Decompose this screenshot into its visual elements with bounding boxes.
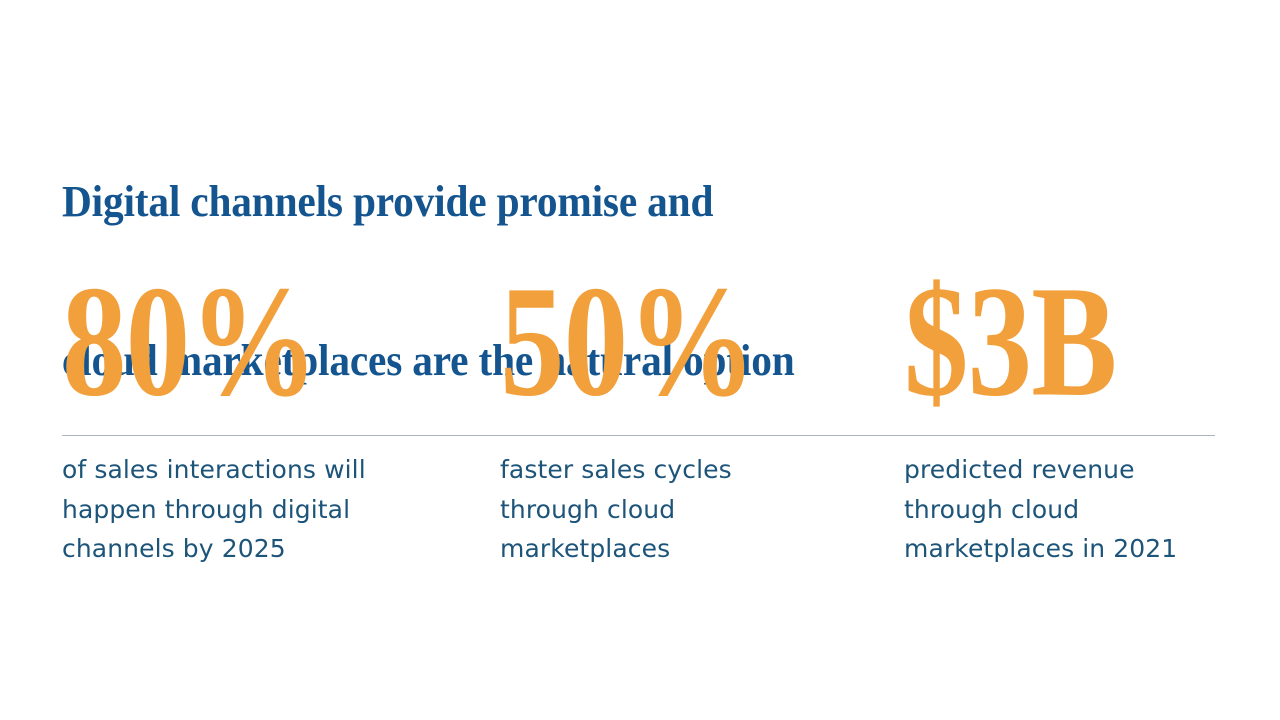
stat-block-1: 80% of sales interactions will happen th… [62, 262, 492, 418]
horizontal-divider [62, 435, 1215, 436]
stat-figure-1: 80% [62, 262, 432, 427]
stat-caption-2: faster sales cycles through cloud market… [500, 450, 732, 569]
stats-group: 80% of sales interactions will happen th… [0, 262, 1280, 582]
slide-canvas: Digital channels provide promise and clo… [0, 0, 1280, 720]
stat-figure-2: 50% [500, 262, 844, 427]
stat-caption-3: predicted revenue through cloud marketpl… [904, 450, 1177, 569]
stat-figure-3: $3B [904, 262, 1179, 427]
page-title-line-1: Digital channels provide promise and [62, 175, 1002, 228]
stat-block-3: $3B predicted revenue through cloud mark… [904, 262, 1224, 418]
stat-block-2: 50% faster sales cycles through cloud ma… [500, 262, 900, 418]
stat-caption-1: of sales interactions will happen throug… [62, 450, 366, 569]
